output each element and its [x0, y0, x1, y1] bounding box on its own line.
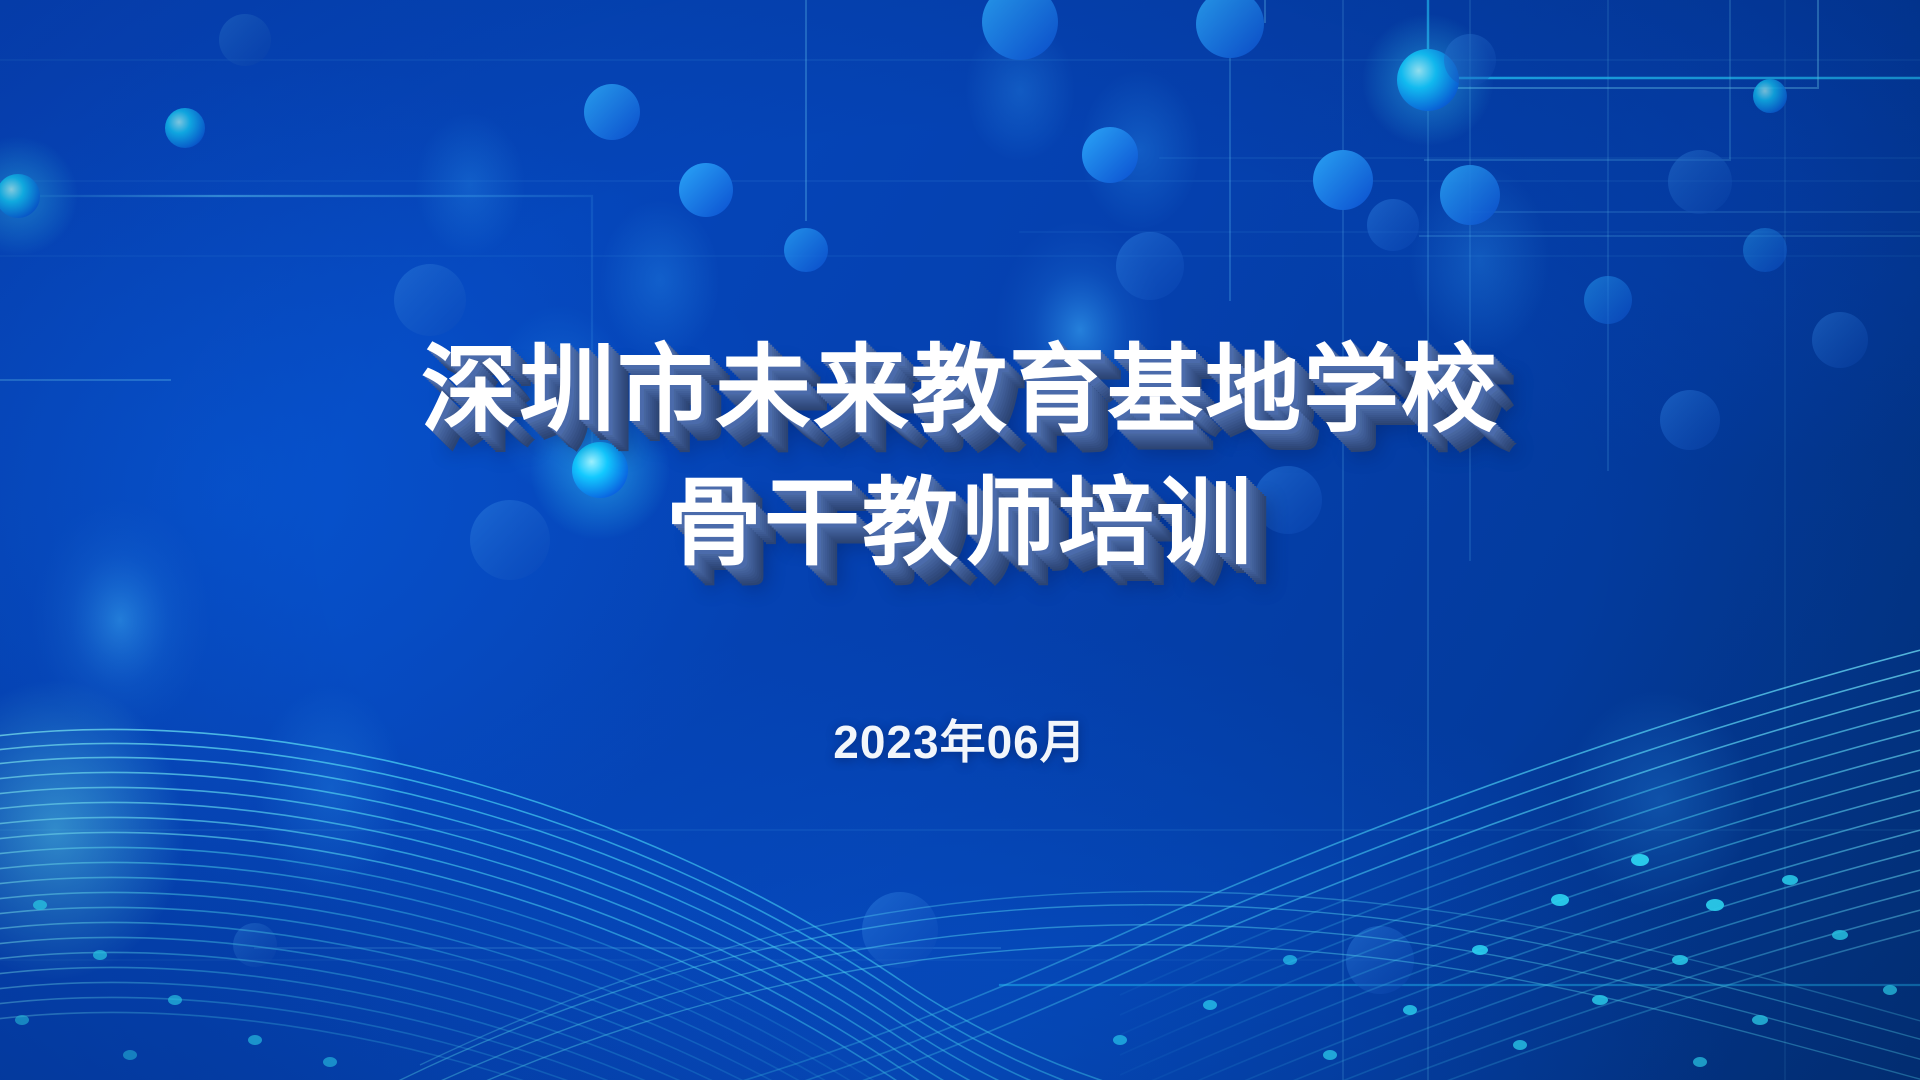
slide-title-line-1: 深圳市未来教育基地学校 — [0, 330, 1920, 453]
slide-date: 2023年06月 — [0, 706, 1920, 772]
slide-content: 深圳市未来教育基地学校 骨干教师培训 2023年06月 — [0, 330, 1920, 772]
slide-title-line-2: 骨干教师培训 — [0, 463, 1920, 586]
title-slide: 深圳市未来教育基地学校 骨干教师培训 2023年06月 — [0, 0, 1920, 1080]
